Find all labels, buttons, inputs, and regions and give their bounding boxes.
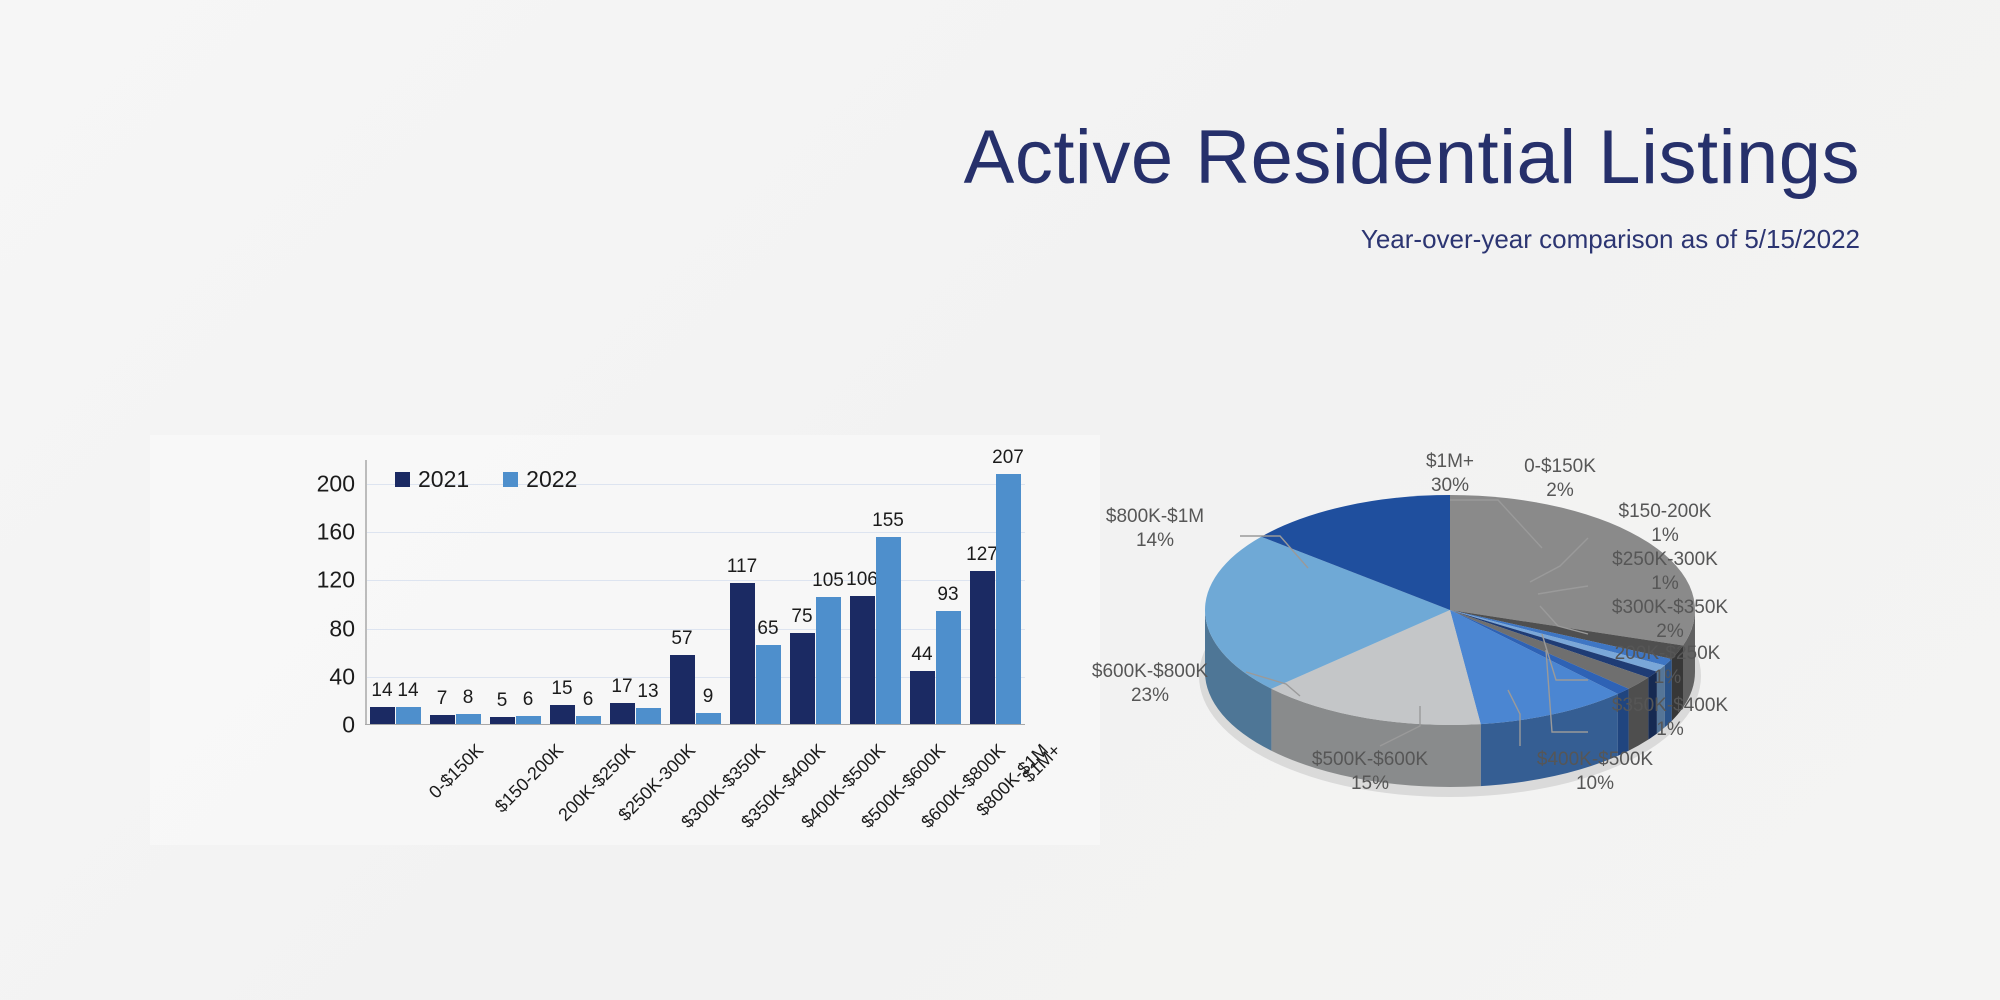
bar-value-label: 5: [497, 690, 508, 712]
bar-group: 1713$300K-$350K: [605, 459, 665, 724]
y-axis-tick-label: 120: [317, 567, 355, 594]
pie-callout-value: 15%: [1285, 772, 1455, 796]
bar-value-label: 8: [463, 687, 474, 709]
bar-chart-panel: 04080120160200 20212022 14140-$150K78$15…: [150, 435, 1100, 845]
bar-rect: [876, 537, 901, 724]
bar-2022[interactable]: 14: [396, 459, 421, 724]
bar-rect: [816, 597, 841, 723]
bar-rect: [790, 633, 815, 723]
pie-callout-200K-$250K: 200K-$250K1%: [1590, 642, 1745, 691]
bar-group: 56200K-$250K: [485, 459, 545, 724]
bar-value-label: 13: [637, 681, 658, 703]
pie-callout-label: $300K-$350K: [1590, 596, 1750, 620]
y-axis-tick-label: 200: [317, 471, 355, 498]
y-axis-tick-label: 80: [329, 615, 355, 642]
bar-value-label: 6: [583, 689, 594, 711]
pie-callout-label: $400K-$500K: [1510, 748, 1680, 772]
pie-callout-0-$150K: 0-$150K2%: [1490, 455, 1630, 504]
pie-callout-label: $600K-$800K: [1060, 660, 1240, 684]
bar-rect: [730, 583, 755, 724]
bar-chart-plot-area: 04080120160200 20212022 14140-$150K78$15…: [365, 460, 1025, 725]
pie-callout-label: $150-200K: [1590, 500, 1740, 524]
bar-2021[interactable]: 44: [910, 459, 935, 724]
bar-value-label: 57: [671, 628, 692, 650]
pie-callout-value: 1%: [1590, 572, 1740, 596]
bar-rect: [610, 703, 635, 723]
pie-callout-$350K-$400K: $350K-$400K1%: [1590, 694, 1750, 743]
bar-group: 4493$800K-$1M: [905, 459, 965, 724]
bar-value-label: 6: [523, 689, 534, 711]
bar-2022[interactable]: 9: [696, 459, 721, 724]
pie-callout-$400K-$500K: $400K-$500K10%: [1510, 748, 1680, 797]
pie-callout-$600K-$800K: $600K-$800K23%: [1060, 660, 1240, 709]
bar-rect: [936, 611, 961, 723]
pie-callout-label: $350K-$400K: [1590, 694, 1750, 718]
bar-value-label: 93: [937, 584, 958, 606]
bar-value-label: 207: [992, 447, 1024, 469]
bar-rect: [550, 705, 575, 723]
bar-rect: [430, 715, 455, 723]
bar-2021[interactable]: 117: [730, 459, 755, 724]
bar-rect: [516, 716, 541, 723]
header: Active Residential Listings Year-over-ye…: [0, 120, 1860, 255]
pie-callout-$800K-$1M: $800K-$1M14%: [1075, 505, 1235, 554]
x-axis-tick-label: $150-200K: [491, 740, 568, 817]
slide-root: Active Residential Listings Year-over-ye…: [0, 0, 2000, 1000]
bar-value-label: 75: [791, 606, 812, 628]
page-title: Active Residential Listings: [0, 120, 1860, 196]
bar-2022[interactable]: 93: [936, 459, 961, 724]
bar-value-label: 14: [371, 680, 392, 702]
bar-2022[interactable]: 105: [816, 459, 841, 724]
bar-rect: [970, 571, 995, 724]
bar-group: 11765$400K-$500K: [725, 459, 785, 724]
bar-group: 106155$600K-$800K: [845, 459, 905, 724]
pie-callout-value: 2%: [1590, 620, 1750, 644]
pie-callout-value: 1%: [1590, 666, 1745, 690]
bar-value-label: 15: [551, 678, 572, 700]
bar-group: 579$350K-$400K: [665, 459, 725, 724]
bar-2021[interactable]: 5: [490, 459, 515, 724]
bar-rect: [396, 707, 421, 724]
pie-callout-label: 0-$150K: [1490, 455, 1630, 479]
y-axis-tick-label: 160: [317, 519, 355, 546]
bar-value-label: 14: [397, 680, 418, 702]
bar-value-label: 105: [812, 570, 844, 592]
x-axis-line: [365, 724, 1025, 726]
bar-value-label: 44: [911, 644, 932, 666]
bar-rect: [996, 474, 1021, 723]
bar-2022[interactable]: 65: [756, 459, 781, 724]
pie-callout-value: 10%: [1510, 772, 1680, 796]
pie-callout-value: 1%: [1590, 718, 1750, 742]
bar-rect: [696, 713, 721, 724]
bar-2021[interactable]: 14: [370, 459, 395, 724]
bar-value-label: 127: [966, 544, 998, 566]
y-axis-tick-label: 40: [329, 663, 355, 690]
bar-2022[interactable]: 6: [576, 459, 601, 724]
bar-group: 127207$1M+: [965, 459, 1025, 724]
bar-value-label: 155: [872, 510, 904, 532]
x-axis-tick-label: 0-$150K: [425, 740, 488, 803]
bar-group: 78$150-200K: [425, 459, 485, 724]
bar-2021[interactable]: 57: [670, 459, 695, 724]
bar-rect: [670, 655, 695, 724]
bar-rect: [370, 707, 395, 724]
pie-callout-$250K-300K: $250K-300K1%: [1590, 548, 1740, 597]
bar-rect: [490, 717, 515, 723]
bar-2022[interactable]: 8: [456, 459, 481, 724]
bar-value-label: 7: [437, 688, 448, 710]
bar-2022[interactable]: 207: [996, 459, 1021, 724]
bar-group: 156$250K-300K: [545, 459, 605, 724]
pie-callout-$300K-$350K: $300K-$350K2%: [1590, 596, 1750, 645]
bar-2021[interactable]: 17: [610, 459, 635, 724]
pie-callout-label: 200K-$250K: [1590, 642, 1745, 666]
pie-callout-value: 23%: [1060, 684, 1240, 708]
bar-2021[interactable]: 15: [550, 459, 575, 724]
bar-rect: [756, 645, 781, 723]
bar-2022[interactable]: 6: [516, 459, 541, 724]
pie-chart-panel: $1M+30%0-$150K2%$150-200K1%$250K-300K1%$…: [1090, 440, 1970, 860]
bar-rect: [636, 708, 661, 724]
pie-callout-$500K-$600K: $500K-$600K15%: [1285, 748, 1455, 797]
bar-2022[interactable]: 155: [876, 459, 901, 724]
bar-rect: [576, 716, 601, 723]
bar-value-label: 117: [727, 556, 757, 578]
bar-rect: [910, 671, 935, 724]
bar-group: 75105$500K-$600K: [785, 459, 845, 724]
bar-2021[interactable]: 7: [430, 459, 455, 724]
bar-rect: [456, 714, 481, 724]
bar-value-label: 65: [757, 618, 778, 640]
bar-2021[interactable]: 106: [850, 459, 875, 724]
bar-value-label: 106: [846, 569, 878, 591]
bar-value-label: 17: [611, 676, 632, 698]
pie-callout-value: 14%: [1075, 529, 1235, 553]
bar-2021[interactable]: 127: [970, 459, 995, 724]
pie-callout-value: 1%: [1590, 524, 1740, 548]
pie-callout-$150-200K: $150-200K1%: [1590, 500, 1740, 549]
bar-2022[interactable]: 13: [636, 459, 661, 724]
page-subtitle: Year-over-year comparison as of 5/15/202…: [0, 224, 1860, 255]
bar-group: 14140-$150K: [365, 459, 425, 724]
bar-rect: [850, 596, 875, 724]
pie-callout-label: $250K-300K: [1590, 548, 1740, 572]
pie-callout-label: $800K-$1M: [1075, 505, 1235, 529]
bar-2021[interactable]: 75: [790, 459, 815, 724]
y-axis-tick-label: 0: [342, 712, 355, 739]
pie-callout-label: $500K-$600K: [1285, 748, 1455, 772]
bar-value-label: 9: [703, 686, 714, 708]
